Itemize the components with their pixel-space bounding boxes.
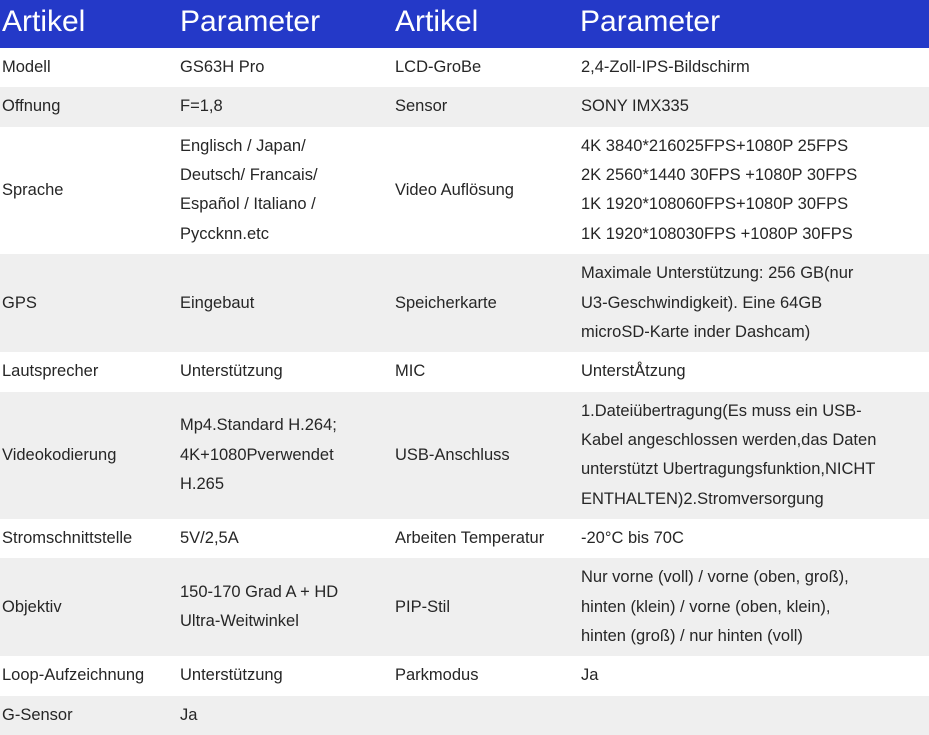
table-cell: GPS (0, 254, 178, 352)
table-cell: Unterstützung (178, 352, 393, 391)
table-cell: LCD-GroBe (393, 48, 578, 87)
table-cell: -20°C bis 70C (578, 519, 929, 558)
table-cell: Eingebaut (178, 254, 393, 352)
cell-line: Sensor (395, 92, 570, 121)
cell-line: Pyccknn.etc (180, 220, 385, 249)
specification-table: Artikel Parameter Artikel Parameter Mode… (0, 0, 929, 735)
cell-line: -20°C bis 70C (581, 524, 921, 553)
table-cell: Objektiv (0, 558, 178, 656)
cell-line: Arbeiten Temperatur (395, 524, 570, 553)
cell-line: Offnung (2, 92, 170, 121)
cell-line: hinten (klein) / vorne (oben, klein), (581, 593, 921, 622)
header-row: Artikel Parameter Artikel Parameter (0, 0, 929, 48)
cell-line: Englisch / Japan/ (180, 132, 385, 161)
cell-line: unterstützt Ubertragungsfunktion,NICHT (581, 455, 921, 484)
cell-line: Lautsprecher (2, 357, 170, 386)
cell-line: 1K 1920*108030FPS +1080P 30FPS (581, 220, 921, 249)
cell-line: Maximale Unterstützung: 256 GB(nur (581, 259, 921, 288)
cell-line: USB-Anschluss (395, 441, 570, 470)
table-row: Objektiv150-170 Grad A + HDUltra-Weitwin… (0, 558, 929, 656)
cell-line: Speicherkarte (395, 289, 570, 318)
table-cell: Nur vorne (voll) / vorne (oben, groß),hi… (578, 558, 929, 656)
table-cell: PIP-Stil (393, 558, 578, 656)
table-cell (578, 696, 929, 735)
cell-line: GS63H Pro (180, 53, 385, 82)
cell-line: LCD-GroBe (395, 53, 570, 82)
table-cell (393, 696, 578, 735)
cell-line: PIP-Stil (395, 593, 570, 622)
cell-line: microSD-Karte inder Dashcam) (581, 318, 921, 347)
cell-line: Stromschnittstelle (2, 524, 170, 553)
table-row: Stromschnittstelle5V/2,5AArbeiten Temper… (0, 519, 929, 558)
cell-line: 2K 2560*1440 30FPS +1080P 30FPS (581, 161, 921, 190)
cell-line: MIC (395, 357, 570, 386)
cell-line: 1.Dateiübertragung(Es muss ein USB- (581, 397, 921, 426)
cell-line: 5V/2,5A (180, 524, 385, 553)
table-cell: 5V/2,5A (178, 519, 393, 558)
table-row: LautsprecherUnterstützungMICUnterstÅtzun… (0, 352, 929, 391)
table-cell: UnterstÅtzung (578, 352, 929, 391)
cell-line: Objektiv (2, 593, 170, 622)
cell-line: Ja (581, 661, 921, 690)
table-cell: MIC (393, 352, 578, 391)
cell-line: UnterstÅtzung (581, 357, 921, 386)
table-row: VideokodierungMp4.Standard H.264;4K+1080… (0, 392, 929, 519)
table-cell: Mp4.Standard H.264;4K+1080PverwendetH.26… (178, 392, 393, 519)
column-header-parameter-2: Parameter (578, 0, 929, 48)
cell-line: 2,4-Zoll-IPS-Bildschirm (581, 53, 921, 82)
column-header-artikel-2: Artikel (393, 0, 578, 48)
table-row: GPSEingebautSpeicherkarteMaximale Unters… (0, 254, 929, 352)
table-row: SpracheEnglisch / Japan/Deutsch/ Francai… (0, 127, 929, 254)
cell-line: Mp4.Standard H.264; (180, 411, 385, 440)
table-cell: 4K 3840*216025FPS+1080P 25FPS2K 2560*144… (578, 127, 929, 254)
cell-line: Nur vorne (voll) / vorne (oben, groß), (581, 563, 921, 592)
table-cell: Maximale Unterstützung: 256 GB(nurU3-Ges… (578, 254, 929, 352)
cell-line: Deutsch/ Francais/ (180, 161, 385, 190)
table-cell: Modell (0, 48, 178, 87)
cell-line: Kabel angeschlossen werden,das Daten (581, 426, 921, 455)
cell-line: Unterstützung (180, 357, 385, 386)
cell-line: G-Sensor (2, 701, 170, 730)
table-cell: Arbeiten Temperatur (393, 519, 578, 558)
cell-line: 4K 3840*216025FPS+1080P 25FPS (581, 132, 921, 161)
table-row: ModellGS63H ProLCD-GroBe2,4-Zoll-IPS-Bil… (0, 48, 929, 87)
cell-line: hinten (groß) / nur hinten (voll) (581, 622, 921, 651)
cell-line: Modell (2, 53, 170, 82)
cell-line: Parkmodus (395, 661, 570, 690)
table-cell: Sensor (393, 87, 578, 126)
table-cell: Stromschnittstelle (0, 519, 178, 558)
cell-line: Sprache (2, 176, 170, 205)
cell-line: SONY IMX335 (581, 92, 921, 121)
table-cell: Loop-Aufzeichnung (0, 656, 178, 695)
table-header: Artikel Parameter Artikel Parameter (0, 0, 929, 48)
column-header-artikel-1: Artikel (0, 0, 178, 48)
table-cell: Unterstützung (178, 656, 393, 695)
table-cell: 2,4-Zoll-IPS-Bildschirm (578, 48, 929, 87)
cell-line: 1K 1920*108060FPS+1080P 30FPS (581, 190, 921, 219)
table-row: G-SensorJa (0, 696, 929, 735)
cell-line: U3-Geschwindigkeit). Eine 64GB (581, 289, 921, 318)
cell-line: Loop-Aufzeichnung (2, 661, 170, 690)
table-cell: Parkmodus (393, 656, 578, 695)
table-cell: Videokodierung (0, 392, 178, 519)
cell-line: 4K+1080Pverwendet (180, 441, 385, 470)
table-cell: 1.Dateiübertragung(Es muss ein USB-Kabel… (578, 392, 929, 519)
table-cell: USB-Anschluss (393, 392, 578, 519)
cell-line: F=1,8 (180, 92, 385, 121)
cell-line: H.265 (180, 470, 385, 499)
cell-line: Unterstützung (180, 661, 385, 690)
table-cell: SONY IMX335 (578, 87, 929, 126)
table-cell: Video Auflösung (393, 127, 578, 254)
cell-line: Ultra-Weitwinkel (180, 607, 385, 636)
cell-line: Ja (180, 701, 385, 730)
column-header-parameter-1: Parameter (178, 0, 393, 48)
cell-line: GPS (2, 289, 170, 318)
table-cell: Englisch / Japan/Deutsch/ Francais/Españ… (178, 127, 393, 254)
table-cell: 150-170 Grad A + HDUltra-Weitwinkel (178, 558, 393, 656)
table-cell: GS63H Pro (178, 48, 393, 87)
table-body: ModellGS63H ProLCD-GroBe2,4-Zoll-IPS-Bil… (0, 48, 929, 735)
table-cell: Ja (578, 656, 929, 695)
table-cell: Offnung (0, 87, 178, 126)
cell-line: 150-170 Grad A + HD (180, 578, 385, 607)
table-cell: Ja (178, 696, 393, 735)
table-cell: Lautsprecher (0, 352, 178, 391)
table-row: Loop-AufzeichnungUnterstützungParkmodusJ… (0, 656, 929, 695)
table-cell: Speicherkarte (393, 254, 578, 352)
table-cell: Sprache (0, 127, 178, 254)
cell-line: Español / Italiano / (180, 190, 385, 219)
table-cell: F=1,8 (178, 87, 393, 126)
table-row: OffnungF=1,8SensorSONY IMX335 (0, 87, 929, 126)
table-cell: G-Sensor (0, 696, 178, 735)
cell-line: Videokodierung (2, 441, 170, 470)
cell-line: Eingebaut (180, 289, 385, 318)
cell-line: ENTHALTEN)2.Stromversorgung (581, 485, 921, 514)
cell-line: Video Auflösung (395, 176, 570, 205)
